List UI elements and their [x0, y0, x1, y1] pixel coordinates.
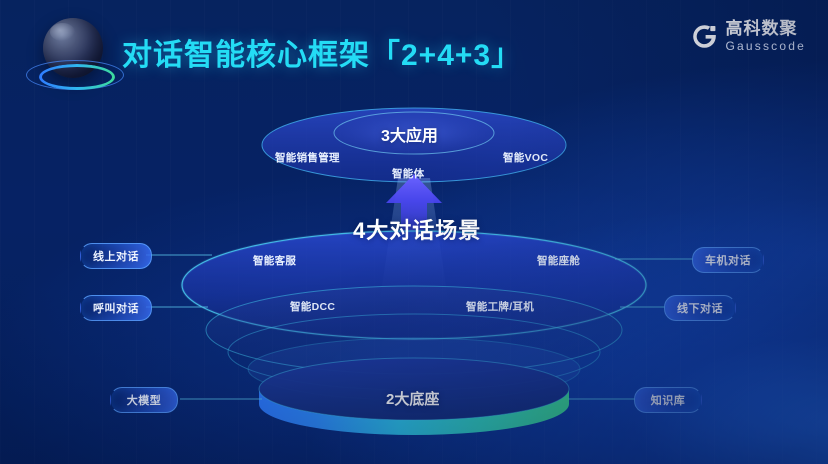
slide-header: 对话智能核心框架「2+4+3」 高科数聚 Gausscode	[0, 0, 828, 104]
pill-large-model[interactable]: 大模型	[110, 387, 178, 413]
layer-foundation-heading: 2大底座	[386, 388, 439, 409]
label-smart-badge-headset: 智能工牌/耳机	[466, 299, 534, 314]
brand-logo: 高科数聚 Gausscode	[691, 20, 806, 52]
pill-offline-dialogue[interactable]: 线下对话	[664, 295, 736, 321]
slide-root: 对话智能核心框架「2+4+3」 高科数聚 Gausscode 3大应用 智能销售…	[0, 0, 828, 464]
label-smart-voc: 智能VOC	[503, 150, 548, 165]
gausscode-circle-mark-icon	[691, 23, 718, 50]
label-smart-customer-service: 智能客服	[253, 253, 296, 268]
sphere-inner-ring	[39, 64, 115, 90]
layer-scenarios-heading: 4大对话场景	[353, 213, 481, 245]
pill-online-dialogue[interactable]: 线上对话	[80, 243, 152, 269]
label-smart-dcc: 智能DCC	[290, 299, 335, 314]
pill-call-dialogue[interactable]: 呼叫对话	[80, 295, 152, 321]
layer-applications-heading: 3大应用	[381, 122, 438, 146]
brand-name-cn: 高科数聚	[725, 20, 806, 37]
label-agent: 智能体	[392, 166, 424, 181]
label-smart-sales-management: 智能销售管理	[275, 150, 340, 165]
pill-invehicle-dialogue[interactable]: 车机对话	[692, 247, 764, 273]
pill-knowledge-base[interactable]: 知识库	[634, 387, 702, 413]
brand-name-en: Gausscode	[725, 40, 806, 52]
label-smart-cockpit: 智能座舱	[537, 253, 580, 268]
brand-logo-text: 高科数聚 Gausscode	[725, 20, 806, 52]
glowing-sphere-icon	[26, 14, 122, 96]
page-title: 对话智能核心框架「2+4+3」	[122, 30, 522, 74]
